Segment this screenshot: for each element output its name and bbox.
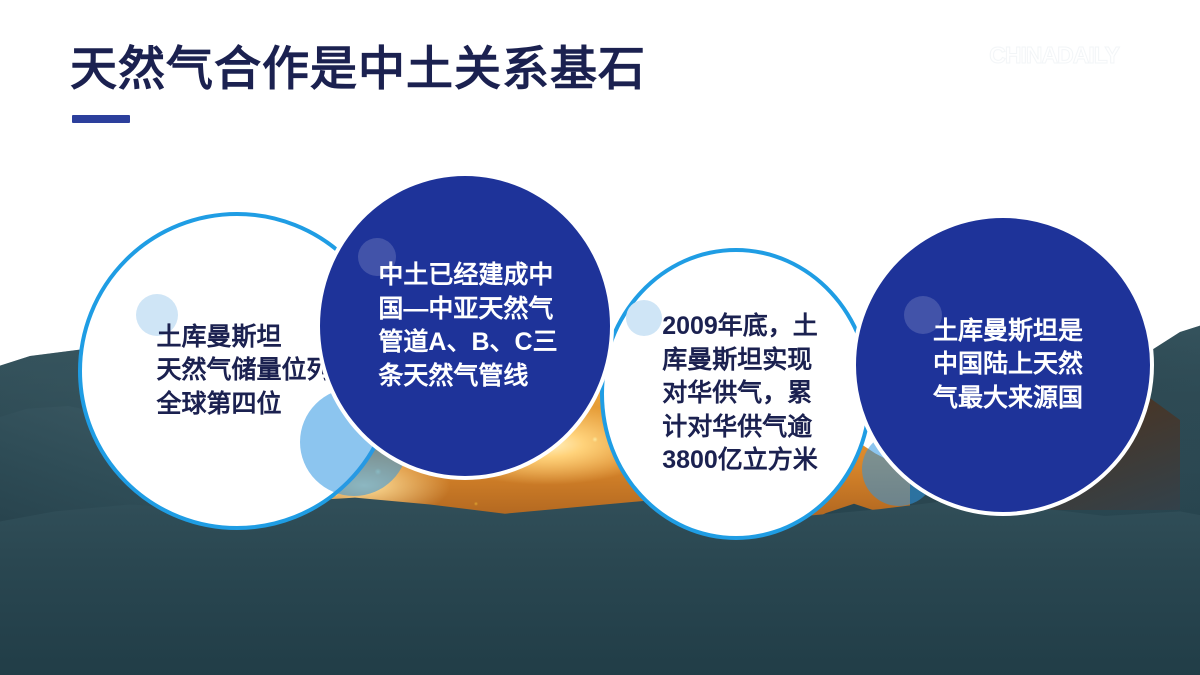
- infographic-slide: 天然气合作是中土关系基石 CHINADAILY 中国日报网 .COM.CN 土库…: [0, 0, 1200, 675]
- fact-bubble-2-text: 中土已经建成中 国—中亚天然气 管道A、B、C三 条天然气管线: [378, 259, 557, 393]
- page-title: 天然气合作是中土关系基石: [70, 42, 646, 96]
- fact-bubble-4[interactable]: 土库曼斯坦是 中国陆上天然 气最大来源国: [852, 214, 1154, 516]
- accent-dot-icon: [626, 300, 662, 336]
- fact-bubble-4-text: 土库曼斯坦是 中国陆上天然 气最大来源国: [933, 315, 1083, 416]
- title-underline-rule: [72, 115, 130, 123]
- fact-bubble-3[interactable]: 2009年底，土 库曼斯坦实现 对华供气，累 计对华供气逾 3800亿立方米: [600, 248, 872, 540]
- fact-bubble-3-text: 2009年底，土 库曼斯坦实现 对华供气，累 计对华供气逾 3800亿立方米: [662, 310, 818, 478]
- fact-bubble-2[interactable]: 中土已经建成中 国—中亚天然气 管道A、B、C三 条天然气管线: [316, 172, 614, 480]
- fact-bubble-1-text: 土库曼斯坦 天然气储量位列 全球第四位: [156, 321, 331, 422]
